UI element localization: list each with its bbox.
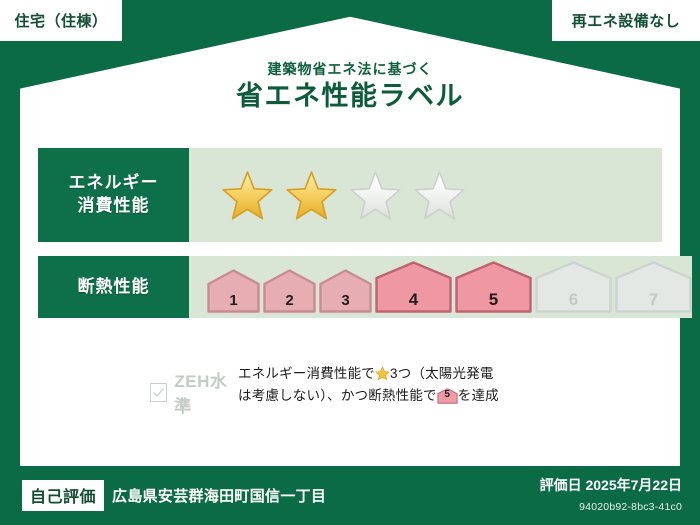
achievement-description: エネルギー消費性能で3つ（太陽光発電 は考慮しない）、かつ断熱性能で5を達成 [238, 357, 662, 407]
label-identifier: 94020b92-8bc3-41c0 [579, 501, 682, 513]
renewable-energy-tab: 再エネ設備なし [552, 0, 700, 41]
star-empty-icon [413, 170, 466, 221]
inline-star-icon [375, 366, 390, 381]
energy-label-root: 住宅（住棟） 再エネ設備なし 建築物省エネ法に基づく 省エネ性能ラベル エネルギ… [0, 0, 700, 525]
insulation-level-2: 2 [263, 269, 316, 313]
insulation-level-7: 7 [615, 261, 692, 313]
zeh-standard-indicator: ZEH水準 [38, 357, 238, 417]
insulation-level-label: 5 [455, 291, 532, 308]
insulation-level-label: 7 [615, 291, 692, 308]
insulation-level-1: 1 [207, 269, 260, 313]
desc-text-part1: エネルギー消費性能で [238, 366, 375, 381]
self-evaluation-badge: 自己評価 [22, 480, 104, 511]
metric-label-insulation-text: 断熱性能 [78, 276, 150, 299]
metric-label-energy-line1: エネルギー [69, 172, 159, 195]
desc-text-part2: は考慮しない）、かつ断熱性能で [238, 388, 437, 403]
page-title: 省エネ性能ラベル [0, 81, 700, 112]
note-area: ZEH水準 エネルギー消費性能で3つ（太陽光発電 は考慮しない）、かつ断熱性能で… [38, 357, 662, 417]
metric-value-insulation: 1234567 [189, 256, 692, 318]
metric-row-insulation: 断熱性能 1234567 [38, 256, 662, 318]
zeh-standard-label: ZEH水準 [174, 367, 238, 417]
metric-label-insulation: 断熱性能 [38, 256, 189, 318]
footer-right-block: 評価日 2025年7月22日 94020b92-8bc3-41c0 [540, 476, 682, 516]
star-filled-icon [221, 170, 274, 221]
inline-house-badge-number: 5 [437, 388, 458, 404]
desc-text-star-count: 3つ（太陽光発電 [390, 366, 494, 381]
insulation-level-label: 1 [207, 293, 260, 308]
star-rating [221, 170, 466, 221]
metric-row-energy: エネルギー 消費性能 [38, 148, 662, 242]
metric-label-energy: エネルギー 消費性能 [38, 148, 189, 242]
inline-house-badge: 5 [437, 388, 458, 404]
insulation-level-label: 2 [263, 293, 316, 308]
star-filled-icon [285, 170, 338, 221]
title-block: 建築物省エネ法に基づく 省エネ性能ラベル [0, 62, 700, 112]
insulation-level-3: 3 [319, 269, 372, 313]
insulation-level-label: 6 [535, 291, 612, 308]
building-type-tab: 住宅（住棟） [0, 0, 122, 41]
insulation-level-6: 6 [535, 261, 612, 313]
insulation-level-scale: 1234567 [207, 261, 692, 313]
building-type-tab-label: 住宅（住棟） [14, 10, 107, 31]
property-address: 広島県安芸群海田町国信一丁目 [112, 485, 326, 506]
insulation-level-label: 4 [375, 291, 452, 308]
zeh-check-icon [150, 383, 167, 402]
desc-text-part3: を達成 [458, 388, 499, 403]
metric-rows: エネルギー 消費性能 断熱性能 1234567 [38, 148, 662, 318]
star-empty-icon [349, 170, 402, 221]
insulation-level-label: 3 [319, 293, 372, 308]
metric-value-energy [189, 148, 662, 242]
metric-label-energy-line2: 消費性能 [78, 195, 150, 218]
insulation-level-4: 4 [375, 261, 452, 313]
title-subtitle: 建築物省エネ法に基づく [0, 62, 700, 77]
evaluation-date: 評価日 2025年7月22日 [540, 477, 682, 493]
footer-bar: 自己評価 広島県安芸群海田町国信一丁目 評価日 2025年7月22日 94020… [0, 466, 700, 525]
renewable-energy-tab-label: 再エネ設備なし [572, 10, 681, 31]
insulation-level-5: 5 [455, 261, 532, 313]
